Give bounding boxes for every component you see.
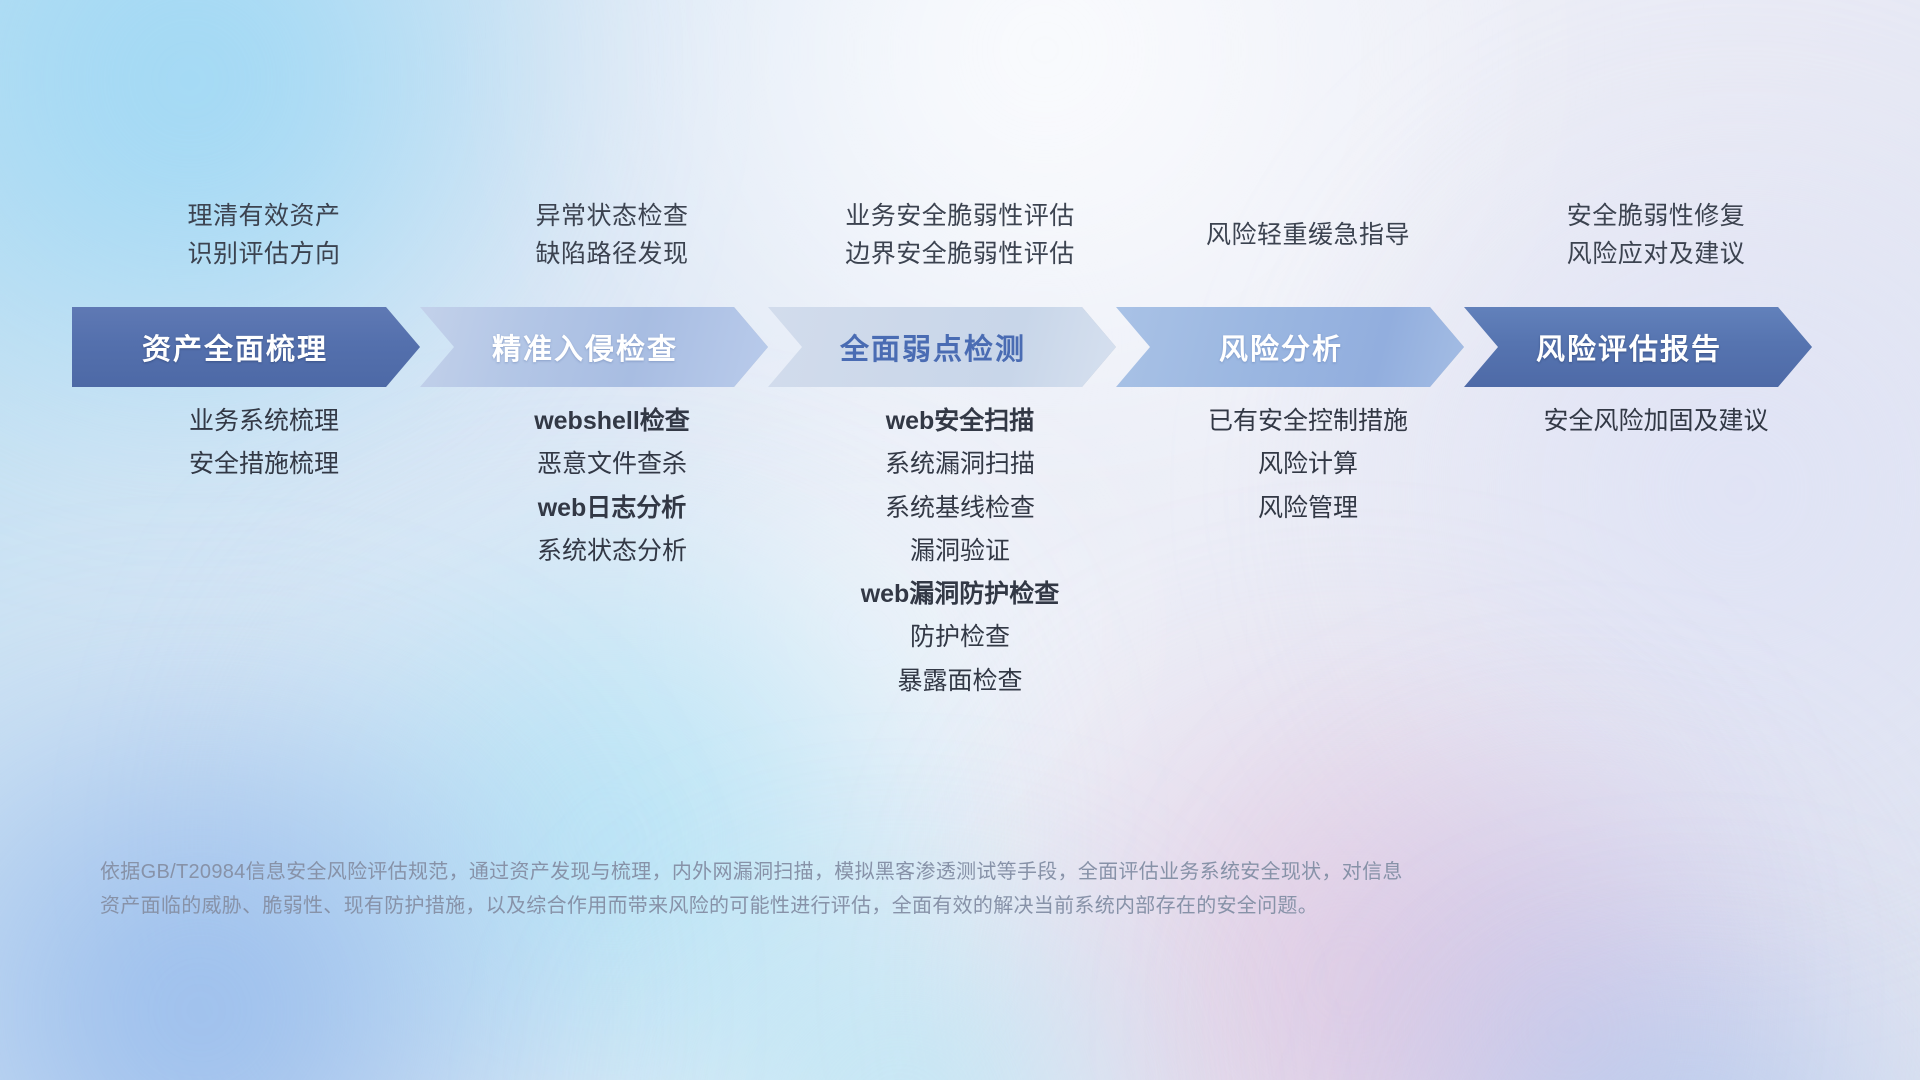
process-stage-5[interactable]: 风险评估报告 <box>1464 307 1812 387</box>
process-stage-1[interactable]: 资产全面梳理 <box>72 307 420 387</box>
stage-top-labels-2: 异常状态检查缺陷路径发现 <box>438 185 786 285</box>
stage-bottom-label: 防护检查 <box>910 624 1010 650</box>
stage-top-label: 业务安全脆弱性评估 <box>845 203 1075 229</box>
process-stage-label: 资产全面梳理 <box>72 326 420 368</box>
stage-top-labels-5: 安全脆弱性修复风险应对及建议 <box>1482 185 1830 285</box>
process-stage-4[interactable]: 风险分析 <box>1116 307 1464 387</box>
stage-top-label: 理清有效资产 <box>187 203 340 229</box>
stage-bottom-label: 暴露面检查 <box>897 668 1022 694</box>
stage-bottom-label: 业务系统梳理 <box>189 408 339 434</box>
stage-bottom-label: 漏洞验证 <box>910 538 1010 564</box>
stage-bottom-labels-4: 已有安全控制措施风险计算风险管理 <box>1134 408 1482 521</box>
process-stage-label: 风险分析 <box>1116 326 1464 368</box>
stage-top-labels-3: 业务安全脆弱性评估边界安全脆弱性评估 <box>786 185 1134 285</box>
stage-top-label: 风险应对及建议 <box>1567 241 1746 267</box>
process-stage-label: 全面弱点检测 <box>768 326 1116 368</box>
footer-description: 依据GB/T20984信息安全风险评估规范，通过资产发现与梳理，内外网漏洞扫描，… <box>100 855 1700 923</box>
stage-top-labels-4: 风险轻重缓急指导 <box>1134 185 1482 285</box>
stage-top-label: 风险轻重缓急指导 <box>1206 222 1410 248</box>
stage-top-label: 异常状态检查 <box>535 203 688 229</box>
stage-bottom-label: 安全风险加固及建议 <box>1543 408 1768 434</box>
stage-bottom-label: 系统漏洞扫描 <box>885 451 1035 477</box>
stage-bottom-label: webshell检查 <box>534 408 690 434</box>
stage-bottom-label: 系统基线检查 <box>885 495 1035 521</box>
stage-bottom-label: 已有安全控制措施 <box>1208 408 1408 434</box>
stage-top-label: 识别评估方向 <box>187 241 340 267</box>
stage-bottom-labels-3: web安全扫描系统漏洞扫描系统基线检查漏洞验证web漏洞防护检查防护检查暴露面检… <box>786 408 1134 694</box>
stage-bottom-labels-5: 安全风险加固及建议 <box>1482 408 1830 434</box>
process-stage-label: 精准入侵检查 <box>420 326 768 368</box>
stage-top-label: 缺陷路径发现 <box>535 241 688 267</box>
stage-bottom-label: 风险管理 <box>1258 495 1358 521</box>
stage-bottom-label: web安全扫描 <box>886 408 1035 434</box>
stage-bottom-labels-1: 业务系统梳理安全措施梳理 <box>90 408 438 478</box>
stage-bottom-label: 恶意文件查杀 <box>537 451 687 477</box>
stage-top-labels-1: 理清有效资产识别评估方向 <box>90 185 438 285</box>
process-stage-label: 风险评估报告 <box>1464 326 1812 368</box>
footer-line-2: 资产面临的威胁、脆弱性、现有防护措施，以及综合作用而带来风险的可能性进行评估，全… <box>100 889 1700 923</box>
stage-top-labels-row: 理清有效资产识别评估方向异常状态检查缺陷路径发现业务安全脆弱性评估边界安全脆弱性… <box>90 185 1830 285</box>
stage-bottom-label: 系统状态分析 <box>537 538 687 564</box>
stage-bottom-label: 安全措施梳理 <box>189 451 339 477</box>
process-chevron-band: 资产全面梳理精准入侵检查全面弱点检测风险分析风险评估报告 <box>72 307 1812 387</box>
stage-bottom-labels-2: webshell检查恶意文件查杀web日志分析系统状态分析 <box>438 408 786 564</box>
footer-line-1: 依据GB/T20984信息安全风险评估规范，通过资产发现与梳理，内外网漏洞扫描，… <box>100 855 1700 889</box>
stage-bottom-label: web漏洞防护检查 <box>861 581 1060 607</box>
stage-top-label: 边界安全脆弱性评估 <box>845 241 1075 267</box>
process-stage-2[interactable]: 精准入侵检查 <box>420 307 768 387</box>
stage-bottom-label: 风险计算 <box>1258 451 1358 477</box>
process-stage-3[interactable]: 全面弱点检测 <box>768 307 1116 387</box>
stage-top-label: 安全脆弱性修复 <box>1567 203 1746 229</box>
stage-bottom-labels-row: 业务系统梳理安全措施梳理webshell检查恶意文件查杀web日志分析系统状态分… <box>90 408 1830 694</box>
stage-bottom-label: web日志分析 <box>538 495 687 521</box>
